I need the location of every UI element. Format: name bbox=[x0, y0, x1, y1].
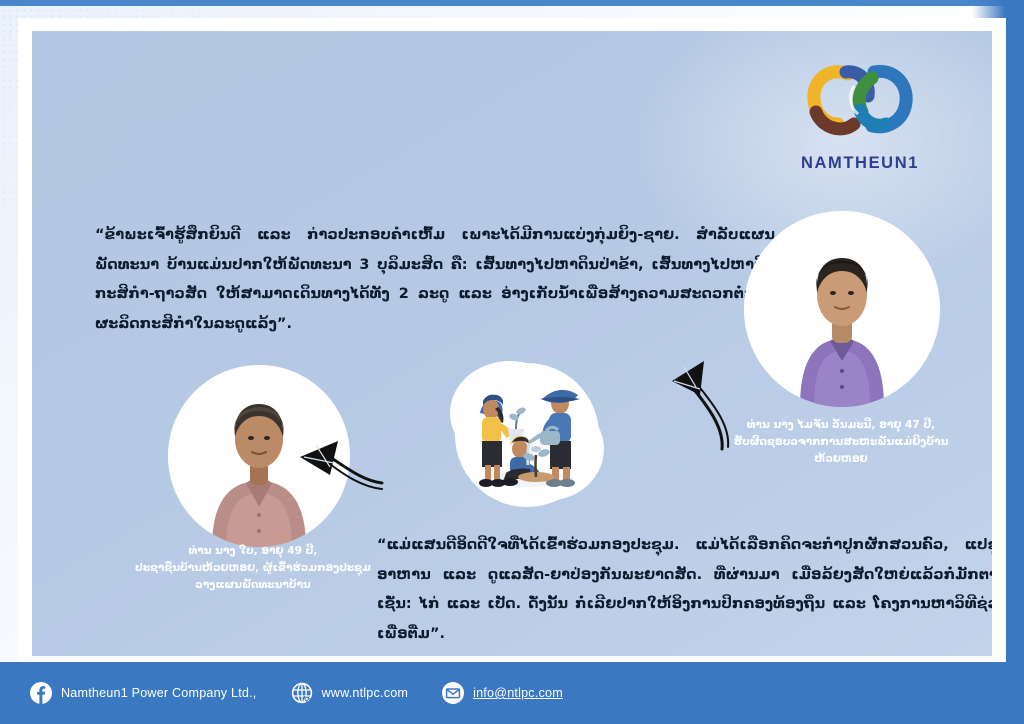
namtheun1-logo-icon bbox=[802, 56, 918, 148]
testimonial-quote-top: “ຂ້າພະເຈົ້າຮູ້ສຶກຍິນດີ ແລະ ກ່າວປະກອບຄຳເຫ… bbox=[95, 221, 775, 339]
content-panel: NAMTHEUN1 “ຂ້າພະເຈົ້າຮູ້ສຶກຍິນດີ ແລະ ກ່າ… bbox=[32, 31, 992, 656]
mail-icon[interactable] bbox=[442, 682, 464, 704]
caption-left: ທ່ານ ນາງ ໃບ, ອາຍຸ 49 ປີ, ປະຊາຊຶນບ້ານຫ້ວຍ… bbox=[124, 543, 382, 594]
portrait-illustration-right bbox=[744, 211, 940, 407]
testimonial-quote-bottom: “ແມ່ແສນດີອິດດີໃຈທີ່ໄດ້ເຂົ້າຮ່ວມກອງປະຊຸມ.… bbox=[377, 531, 992, 649]
footer-website[interactable]: www.ntlpc.com bbox=[291, 682, 409, 704]
footer-website-url[interactable]: www.ntlpc.com bbox=[322, 686, 409, 700]
footer-facebook[interactable]: Namtheun1 Power Company Ltd., bbox=[30, 682, 257, 704]
caption-right-line3: ຫ້ວຍຫອຍ bbox=[712, 451, 970, 468]
caption-right: ທ່ານ ນາງ ໄມຈັນ ວັນມະນີ, ອາຍຸ 47 ປີ, ຮັບຜ… bbox=[712, 417, 970, 468]
logo-wordmark: NAMTHEUN1 bbox=[770, 154, 950, 173]
hand-drawn-arrow-up-right bbox=[650, 343, 742, 455]
caption-left-line3: ວາງແຜນພັດທະນາບ້ານ bbox=[124, 577, 382, 594]
footer-email-address[interactable]: info@ntlpc.com bbox=[473, 686, 563, 700]
footer-email[interactable]: info@ntlpc.com bbox=[442, 682, 563, 704]
caption-left-line2: ປະຊາຊຶນບ້ານຫ້ວຍຫອຍ, ຜູ້ເຂົ້າຮ່ວມກອງປະຊຸມ bbox=[124, 560, 382, 577]
globe-icon[interactable] bbox=[291, 682, 313, 704]
caption-right-line1: ທ່ານ ນາງ ໄມຈັນ ວັນມະນີ, ອາຍຸ 47 ປີ, bbox=[712, 417, 970, 434]
caption-right-line2: ຮັບຜິດຊອບວຈາກການສະຫະພັນແມ່ຍິງບ້ານ bbox=[712, 434, 970, 451]
portrait-photo-right bbox=[744, 211, 940, 407]
hand-drawn-arrow-left bbox=[294, 427, 386, 495]
brand-logo: NAMTHEUN1 bbox=[770, 56, 950, 173]
poster-root: NAMTHEUN1 “ຂ້າພະເຈົ້າຮູ້ສຶກຍິນດີ ແລະ ກ່າ… bbox=[0, 0, 1024, 724]
caption-left-line1: ທ່ານ ນາງ ໃບ, ອາຍຸ 49 ປີ, bbox=[124, 543, 382, 560]
tree-planting-illustration bbox=[436, 353, 618, 523]
facebook-icon[interactable] bbox=[30, 682, 52, 704]
footer: Namtheun1 Power Company Ltd., www.ntlpc.… bbox=[0, 662, 1024, 724]
footer-company-name: Namtheun1 Power Company Ltd., bbox=[61, 686, 257, 700]
top-edge-bar bbox=[0, 0, 1024, 6]
